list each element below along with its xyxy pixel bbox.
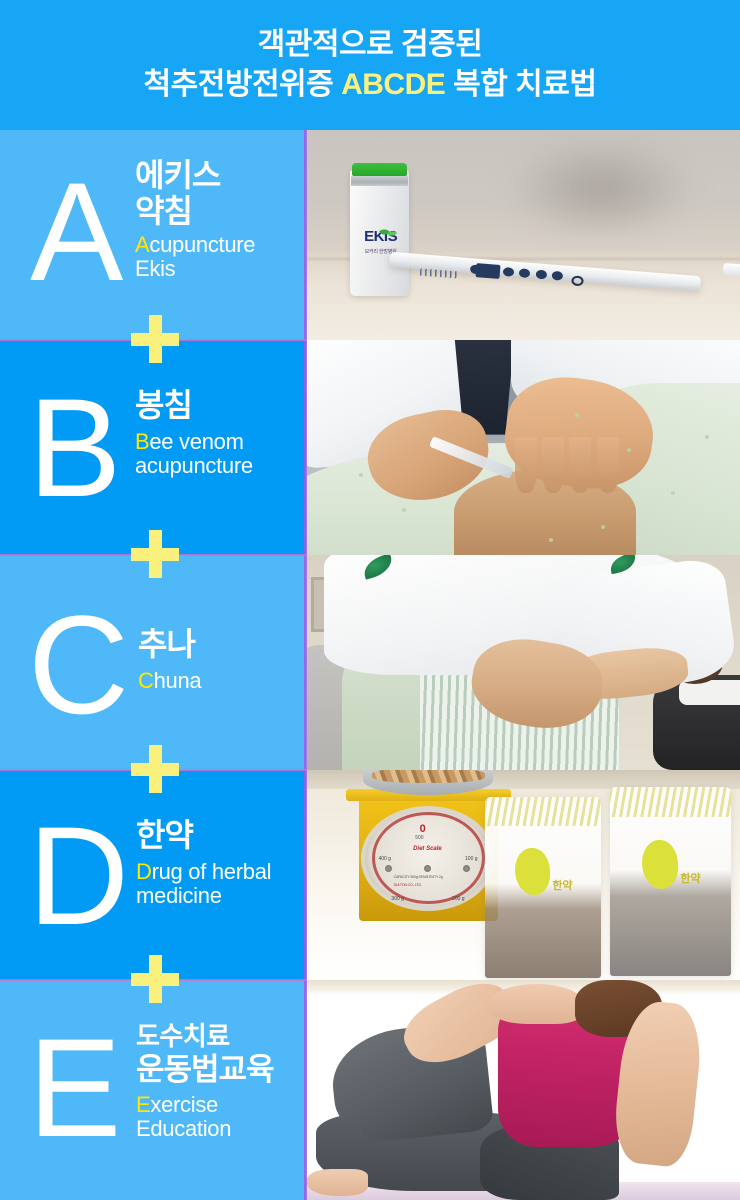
step-d-letter: D	[28, 806, 129, 946]
scale-brand-label: Diet Scale	[413, 846, 442, 852]
pouch-korean-label-2: 한약	[680, 870, 700, 886]
scale-tick-200: 200 g	[452, 896, 465, 902]
step-e-en-line2: Education	[136, 1117, 274, 1142]
pouch-top-pattern	[485, 797, 602, 826]
pouch-top-pattern-2	[610, 787, 731, 817]
chuna-manual-therapy-photo	[307, 555, 740, 770]
step-d-labels: 한약 Drug of herbal medicine	[136, 818, 271, 909]
step-a-en-line2: Ekis	[135, 257, 255, 282]
header-title-line-2: 척추전방전위증 ABCDE 복합 치료법	[144, 65, 597, 105]
step-row-d: D 한약 Drug of herbal medicine 0 500 Diet …	[0, 770, 740, 980]
step-row-c: C 추나 Chuna	[0, 555, 740, 770]
header-title-suffix: 복합 치료법	[445, 68, 596, 101]
step-d-en-line1: Drug of herbal	[136, 860, 271, 885]
step-c-labels: 추나 Chuna	[138, 627, 201, 693]
step-b-en-line1: Bee venom	[135, 430, 253, 455]
step-e-letter: E	[28, 1018, 121, 1158]
step-c-en-initial: C	[138, 668, 154, 693]
background-blur	[506, 138, 697, 239]
plus-connector-c-d	[131, 745, 179, 793]
step-a-labels: 에키스 약침 Acupuncture Ekis	[135, 158, 255, 282]
step-b-en-initial: B	[135, 429, 149, 454]
scale-zero-label: 0	[420, 823, 426, 835]
step-e-text-panel: E 도수치료 운동법교육 Exercise Education	[0, 980, 306, 1200]
scale-capacity-label: 500	[415, 835, 423, 841]
step-a-photo: EKIS 모커리 한방병원	[307, 130, 740, 340]
step-e-en-initial: E	[136, 1092, 150, 1117]
step-b-text-panel: B 봉침 Bee venom acupuncture	[0, 340, 306, 555]
shoulder-skin	[489, 984, 584, 1024]
step-c-photo	[307, 555, 740, 770]
ekis-vial-and-syringe-photo: EKIS 모커리 한방병원	[307, 130, 740, 340]
step-c-letter: C	[28, 595, 129, 735]
vial-neck	[351, 176, 408, 185]
step-a-text-panel: A 에키스 약침 Acupuncture Ekis	[0, 130, 306, 340]
step-e-en-line1: Exercise	[136, 1093, 274, 1118]
pouch-yellow-mark-2	[642, 840, 678, 889]
plus-connector-b-c	[131, 530, 179, 578]
step-row-a: A 에키스 약침 Acupuncture Ekis EKIS 모커리 한방병원	[0, 130, 740, 340]
step-d-en-line2: medicine	[136, 884, 271, 909]
step-b-labels: 봉침 Bee venom acupuncture	[135, 388, 253, 479]
step-c-text-panel: C 추나 Chuna	[0, 555, 306, 770]
dried-herbs	[372, 770, 485, 783]
header-banner: 객관적으로 검증된 척추전방전위증 ABCDE 복합 치료법	[0, 0, 740, 130]
header-title-line-1: 객관적으로 검증된	[258, 25, 483, 65]
herbal-medicine-scale-photo: 0 500 Diet Scale 400 g 100 g 300 g 200 g…	[307, 770, 740, 980]
scale-capacity-text: CAPACITY 500g SENSITIVITY 2g	[394, 875, 443, 879]
step-row-b: B 봉침 Bee venom acupuncture	[0, 340, 740, 555]
scale-maker-text: DULTON CO., LTD.	[394, 883, 422, 887]
step-b-en-line2: acupuncture	[135, 454, 253, 479]
herbal-pouch-front: 한약	[485, 797, 602, 978]
step-e-kr-line2: 운동법교육	[136, 1053, 274, 1088]
pouch-yellow-mark	[515, 848, 550, 895]
header-title-prefix: 척추전방전위증	[144, 68, 342, 101]
foot	[307, 1169, 368, 1195]
step-a-letter: A	[30, 162, 123, 302]
header-title-abcde: ABCDE	[341, 68, 445, 101]
step-a-en-line1: Acupuncture	[135, 233, 255, 258]
step-d-en-initial: D	[136, 859, 152, 884]
plus-connector-a-b	[131, 315, 179, 363]
step-row-e: E 도수치료 운동법교육 Exercise Education	[0, 980, 740, 1200]
step-b-en-rest: ee venom	[149, 429, 243, 454]
step-d-en-rest: rug of herbal	[152, 859, 272, 884]
vial-green-cap	[352, 163, 407, 177]
exercise-education-photo	[307, 980, 740, 1200]
step-a-kr-line2: 약침	[135, 194, 255, 230]
step-c-kr-line1: 추나	[138, 627, 201, 663]
scale-tick-100: 100 g	[465, 856, 478, 862]
step-e-en-rest: xercise	[150, 1092, 218, 1117]
step-b-letter: B	[28, 378, 121, 518]
step-e-photo	[307, 980, 740, 1200]
step-c-en-line1: Chuna	[138, 669, 201, 694]
step-b-photo	[307, 340, 740, 555]
step-d-text-panel: D 한약 Drug of herbal medicine	[0, 770, 306, 980]
bee-venom-injection-photo	[307, 340, 740, 555]
step-a-kr-line1: 에키스	[135, 158, 255, 194]
herbal-pouch-back: 한약	[610, 787, 731, 976]
pouch-korean-label: 한약	[552, 877, 572, 893]
scale-tick-400: 400 g	[378, 856, 391, 862]
step-a-en-initial: A	[135, 232, 149, 257]
scale-tick-300: 300 g	[391, 896, 404, 902]
gown-pattern-dots	[307, 340, 740, 555]
step-c-en-rest: huna	[154, 668, 202, 693]
step-e-labels: 도수치료 운동법교육 Exercise Education	[136, 1022, 274, 1142]
step-b-kr-line1: 봉침	[135, 388, 253, 424]
plus-connector-d-e	[131, 955, 179, 1003]
step-d-kr-line1: 한약	[136, 818, 271, 854]
step-a-en-rest: cupuncture	[149, 232, 255, 257]
step-d-photo: 0 500 Diet Scale 400 g 100 g 300 g 200 g…	[307, 770, 740, 980]
step-e-kr-line1: 도수치료	[136, 1022, 274, 1052]
